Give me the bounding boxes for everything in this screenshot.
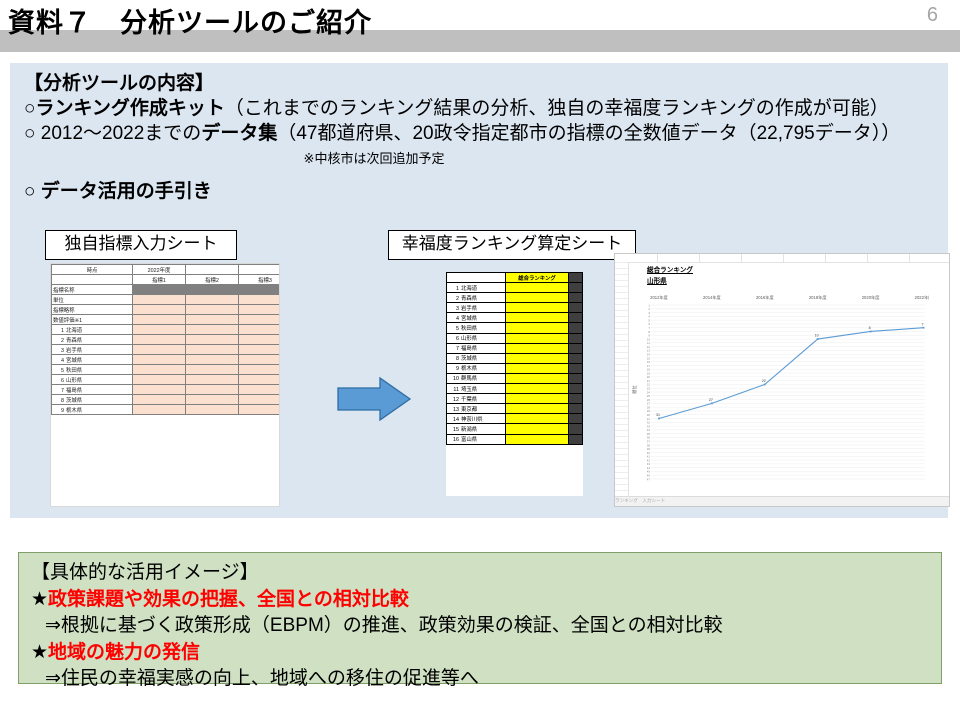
ranking-scroll-strip[interactable] — [569, 303, 583, 313]
table-row: 2青森県 — [447, 293, 583, 303]
input-row-label-eval: 数値評価※1 — [52, 315, 133, 325]
ranking-pref-value[interactable] — [506, 293, 569, 303]
input-pref-cell[interactable] — [239, 355, 281, 365]
usage-detail-1: ⇒根拠に基づく政策形成（EBPM）の推進、政策効果の検証、全国との相対比較 — [31, 613, 723, 640]
caption-input-sheet: 独自指標入力シート — [45, 230, 237, 260]
ranking-pref-value[interactable] — [506, 434, 569, 444]
input-pref-cell[interactable] — [186, 345, 239, 355]
ranking-pref-label: 14神奈川県 — [447, 414, 506, 424]
svg-text:22: 22 — [762, 379, 766, 383]
input-pref-cell[interactable] — [186, 365, 239, 375]
svg-text:47: 47 — [647, 477, 650, 481]
input-cell-name-3[interactable] — [239, 285, 281, 295]
chart-subtitle: 山形県 — [647, 275, 667, 285]
input-pref-rows: 1北海道2青森県3岩手県4宮城県5秋田県6山形県7福島県8茨城県9栃木県 — [52, 325, 281, 415]
ranking-pref-value[interactable] — [506, 353, 569, 363]
input-pref-cell[interactable] — [239, 345, 281, 355]
ranking-pref-value[interactable] — [506, 373, 569, 383]
svg-text:31: 31 — [656, 413, 660, 417]
bullet-1-mark: ○ — [24, 98, 35, 119]
svg-text:2018年度: 2018年度 — [809, 294, 828, 301]
input-pref-label: 1北海道 — [52, 325, 133, 335]
svg-text:8: 8 — [869, 326, 871, 330]
table-row: 指標1 指標2 指標3 — [52, 275, 281, 285]
ranking-pref-label: 15新潟県 — [447, 424, 506, 434]
input-row-label-abbr: 指標略称 — [52, 305, 133, 315]
bullet-2-mark: ○ — [24, 123, 35, 144]
page-title: 資料７ 分析ツールのご紹介 — [8, 10, 372, 37]
table-row: 時点 2022年度 — [52, 265, 281, 275]
table-row: 7福島県 — [52, 385, 281, 395]
ranking-scroll-strip[interactable] — [569, 384, 583, 394]
column-header-bar — [615, 254, 949, 263]
input-pref-cell[interactable] — [239, 385, 281, 395]
input-cell-unit-1[interactable] — [133, 295, 186, 305]
input-header-label: 時点 — [52, 265, 133, 275]
svg-text:10: 10 — [815, 334, 819, 338]
table-row: 14神奈川県 — [447, 414, 583, 424]
chart-sheet-screenshot: 総合ランキング 山形県 順位 1234567891011121314151617… — [614, 253, 950, 507]
sheet-tab-bar[interactable]: ランキング 入力シート — [615, 496, 949, 506]
chart-plot-area: 1234567891011121314151617181920212223242… — [647, 287, 929, 487]
usage-star-1: ★ — [31, 589, 48, 610]
usage-heading: 【具体的な活用イメージ】 — [31, 560, 723, 587]
table-row: 6山形県 — [447, 333, 583, 343]
page-number: 6 — [927, 4, 938, 27]
bullet-2-bold: データ集 — [201, 123, 277, 144]
ranking-pref-value[interactable] — [506, 384, 569, 394]
bullet-2-pre: 2012～2022までの — [35, 123, 201, 144]
ranking-pref-label: 7福島県 — [447, 343, 506, 353]
table-row: 5秋田県 — [447, 323, 583, 333]
ranking-sheet-table: 総合ランキング 1北海道2青森県3岩手県4宮城県5秋田県6山形県7福島県8茨城県… — [446, 272, 583, 445]
input-cell-name-2[interactable] — [186, 285, 239, 295]
ranking-pref-value[interactable] — [506, 333, 569, 343]
input-pref-cell[interactable] — [133, 345, 186, 355]
input-col-2: 指標2 — [186, 275, 239, 285]
input-cell-unit-2[interactable] — [186, 295, 239, 305]
table-row: 9栃木県 — [447, 363, 583, 373]
svg-text:27: 27 — [709, 398, 713, 402]
ranking-scroll-strip[interactable] — [569, 313, 583, 323]
ranking-scroll-strip[interactable] — [569, 373, 583, 383]
input-pref-cell[interactable] — [239, 405, 281, 415]
input-sheet-table: 時点 2022年度 指標1 指標2 指標3 指標名称 単位 — [51, 264, 280, 415]
chart-y-axis-label: 順位 — [632, 385, 638, 394]
usage-item-1-text: 政策課題や効果の把握、全国との相対比較 — [48, 589, 409, 610]
input-pref-cell[interactable] — [133, 365, 186, 375]
table-row: 10群馬県 — [447, 373, 583, 383]
input-pref-cell[interactable] — [239, 335, 281, 345]
table-row: 9栃木県 — [52, 405, 281, 415]
usage-item-2-text: 地域の魅力の発信 — [48, 642, 200, 663]
bullet-1-rest: （これまでのランキング結果の分析、独自の幸福度ランキングの作成が可能） — [225, 98, 889, 119]
ranking-pref-label: 2青森県 — [447, 293, 506, 303]
ranking-pref-label: 8茨城県 — [447, 353, 506, 363]
chart-title: 総合ランキング — [647, 264, 693, 274]
input-pref-cell[interactable] — [186, 395, 239, 405]
usage-text-block: 【具体的な活用イメージ】 ★政策課題や効果の把握、全国との相対比較 ⇒根拠に基づ… — [31, 560, 723, 693]
ranking-pref-value[interactable] — [506, 323, 569, 333]
input-cell-abbr-2[interactable] — [186, 305, 239, 315]
table-row: 8茨城県 — [447, 353, 583, 363]
ranking-pref-label: 3岩手県 — [447, 303, 506, 313]
usage-item-1: ★政策課題や効果の把握、全国との相対比較 — [31, 587, 723, 614]
ranking-scroll-strip[interactable] — [569, 404, 583, 414]
table-row: 8茨城県 — [52, 395, 281, 405]
ranking-scroll-strip[interactable] — [569, 343, 583, 353]
table-row: 16富山県 — [447, 434, 583, 444]
table-row: 5秋田県 — [52, 365, 281, 375]
input-pref-label: 8茨城県 — [52, 395, 133, 405]
svg-text:2020年度: 2020年度 — [862, 294, 881, 301]
table-row: 6山形県 — [52, 375, 281, 385]
bullet-list: 【分析ツールの内容】 ○ランキング作成キット（これまでのランキング結果の分析、独… — [24, 71, 940, 204]
ranking-pref-label: 10群馬県 — [447, 373, 506, 383]
bullet-1-bold: ランキング作成キット — [35, 98, 224, 119]
input-pref-cell[interactable] — [133, 325, 186, 335]
table-row: 4宮城県 — [447, 313, 583, 323]
ranking-pref-label: 6山形県 — [447, 333, 506, 343]
input-pref-cell[interactable] — [239, 325, 281, 335]
ranking-scroll-strip[interactable] — [569, 323, 583, 333]
table-row: 数値評価※1 — [52, 315, 281, 325]
svg-text:7: 7 — [921, 322, 923, 326]
ranking-scroll-strip[interactable] — [569, 363, 583, 373]
input-sheet-screenshot: 時点 2022年度 指標1 指標2 指標3 指標名称 単位 — [50, 263, 280, 507]
ranking-scroll-strip[interactable] — [569, 353, 583, 363]
usage-item-2: ★地域の魅力の発信 — [31, 640, 723, 667]
ranking-pref-value[interactable] — [506, 394, 569, 404]
ranking-pref-rows: 1北海道2青森県3岩手県4宮城県5秋田県6山形県7福島県8茨城県9栃木県10群馬… — [447, 283, 583, 445]
input-pref-cell[interactable] — [133, 395, 186, 405]
input-pref-cell[interactable] — [133, 405, 186, 415]
input-cell-unit-3[interactable] — [239, 295, 281, 305]
ranking-scroll-strip[interactable] — [569, 414, 583, 424]
usage-star-2: ★ — [31, 642, 48, 663]
usage-panel: 【具体的な活用イメージ】 ★政策課題や効果の把握、全国との相対比較 ⇒根拠に基づ… — [18, 552, 942, 684]
svg-text:2014年度: 2014年度 — [703, 294, 722, 301]
bullet-item-3: ○ データ活用の手引き — [24, 179, 940, 204]
ranking-pref-value[interactable] — [506, 343, 569, 353]
table-row: 指標略称 — [52, 305, 281, 315]
input-pref-cell[interactable] — [186, 385, 239, 395]
input-pref-label: 2青森県 — [52, 335, 133, 345]
table-row: 単位 — [52, 295, 281, 305]
svg-text:2016年度: 2016年度 — [756, 294, 775, 301]
input-cell-name-1[interactable] — [133, 285, 186, 295]
input-pref-cell[interactable] — [133, 335, 186, 345]
ranking-pref-value[interactable] — [506, 404, 569, 414]
table-row: 総合ランキング — [447, 273, 583, 283]
ranking-pref-value[interactable] — [506, 424, 569, 434]
ranking-scroll-strip[interactable] — [569, 273, 583, 283]
table-row: 13東京都 — [447, 404, 583, 414]
table-row: 指標名称 — [52, 285, 281, 295]
input-header-blank-1 — [186, 265, 239, 275]
ranking-pref-label: 11埼玉県 — [447, 384, 506, 394]
content-heading: 【分析ツールの内容】 — [24, 71, 940, 96]
ranking-scroll-strip[interactable] — [569, 283, 583, 293]
ranking-pref-value[interactable] — [506, 414, 569, 424]
input-pref-cell[interactable] — [133, 375, 186, 385]
table-row: 4宮城県 — [52, 355, 281, 365]
input-pref-cell[interactable] — [186, 335, 239, 345]
ranking-pref-label: 13東京都 — [447, 404, 506, 414]
ranking-column-header: 総合ランキング — [506, 273, 569, 283]
input-cell-eval-3[interactable] — [239, 315, 281, 325]
input-pref-label: 5秋田県 — [52, 365, 133, 375]
table-row: 1北海道 — [52, 325, 281, 335]
ranking-pref-label: 4宮城県 — [447, 313, 506, 323]
input-col-1: 指標1 — [133, 275, 186, 285]
ranking-pref-label: 5秋田県 — [447, 323, 506, 333]
table-row: 3岩手県 — [52, 345, 281, 355]
input-pref-label: 3岩手県 — [52, 345, 133, 355]
input-pref-label: 6山形県 — [52, 375, 133, 385]
input-pref-cell[interactable] — [186, 355, 239, 365]
ranking-header-blank — [447, 273, 506, 283]
ranking-scroll-strip[interactable] — [569, 293, 583, 303]
input-pref-cell[interactable] — [239, 395, 281, 405]
table-row: 11埼玉県 — [447, 384, 583, 394]
input-row-label-name: 指標名称 — [52, 285, 133, 295]
table-row: 2青森県 — [52, 335, 281, 345]
input-row-label-unit: 単位 — [52, 295, 133, 305]
svg-text:2012年度: 2012年度 — [650, 294, 669, 301]
ranking-scroll-strip[interactable] — [569, 333, 583, 343]
input-pref-cell[interactable] — [186, 375, 239, 385]
input-pref-cell[interactable] — [133, 355, 186, 365]
input-pref-cell[interactable] — [239, 375, 281, 385]
footnote: ※中核市は次回追加予定 — [24, 148, 724, 167]
input-cell-eval-1[interactable] — [133, 315, 186, 325]
input-cell-eval-2[interactable] — [186, 315, 239, 325]
table-row: 3岩手県 — [447, 303, 583, 313]
ranking-pref-label: 1北海道 — [447, 283, 506, 293]
input-header-year: 2022年度 — [133, 265, 186, 275]
bullet-2-rest: （47都道府県、20政令指定都市の指標の全数値データ（22,795データ）） — [277, 123, 900, 144]
ranking-pref-value[interactable] — [506, 363, 569, 373]
sheet-tab-labels[interactable]: ランキング 入力シート — [615, 498, 665, 504]
input-pref-cell[interactable] — [133, 385, 186, 395]
ranking-scroll-strip[interactable] — [569, 394, 583, 404]
input-pref-label: 4宮城県 — [52, 355, 133, 365]
table-row: 15新潟県 — [447, 424, 583, 434]
svg-text:2022年度: 2022年度 — [915, 294, 929, 301]
input-cell-abbr-3[interactable] — [239, 305, 281, 315]
ranking-sheet-screenshot: 総合ランキング 1北海道2青森県3岩手県4宮城県5秋田県6山形県7福島県8茨城県… — [446, 272, 583, 496]
table-row: 12千葉県 — [447, 394, 583, 404]
input-pref-label: 9栃木県 — [52, 405, 133, 415]
ranking-pref-label: 9栃木県 — [447, 363, 506, 373]
input-col-3: 指標3 — [239, 275, 281, 285]
ranking-pref-value[interactable] — [506, 313, 569, 323]
input-pref-cell[interactable] — [239, 365, 281, 375]
input-pref-cell[interactable] — [186, 405, 239, 415]
slide-root: 資料７ 分析ツールのご紹介 6 【分析ツールの内容】 ○ランキング作成キット（こ… — [0, 0, 960, 720]
table-row: 1北海道 — [447, 283, 583, 293]
bullet-item-1: ○ランキング作成キット（これまでのランキング結果の分析、独自の幸福度ランキングの… — [24, 96, 940, 121]
input-pref-label: 7福島県 — [52, 385, 133, 395]
input-cell-abbr-1[interactable] — [133, 305, 186, 315]
bullet-item-2: ○ 2012～2022までのデータ集（47都道府県、20政令指定都市の指標の全数… — [24, 121, 940, 146]
ranking-pref-label: 16富山県 — [447, 434, 506, 444]
ranking-pref-value[interactable] — [506, 303, 569, 313]
caption-ranking-sheet: 幸福度ランキング算定シート — [388, 230, 636, 260]
flow-arrow-icon — [336, 375, 412, 423]
ranking-pref-value[interactable] — [506, 283, 569, 293]
ranking-pref-label: 12千葉県 — [447, 394, 506, 404]
input-colhdr-blank — [52, 275, 133, 285]
input-pref-cell[interactable] — [186, 325, 239, 335]
usage-detail-2: ⇒住民の幸福実感の向上、地域への移住の促進等へ — [31, 666, 723, 693]
table-row: 7福島県 — [447, 343, 583, 353]
row-header-bar — [615, 262, 629, 498]
input-header-blank-2 — [239, 265, 281, 275]
ranking-scroll-strip[interactable] — [569, 434, 583, 444]
ranking-scroll-strip[interactable] — [569, 424, 583, 434]
